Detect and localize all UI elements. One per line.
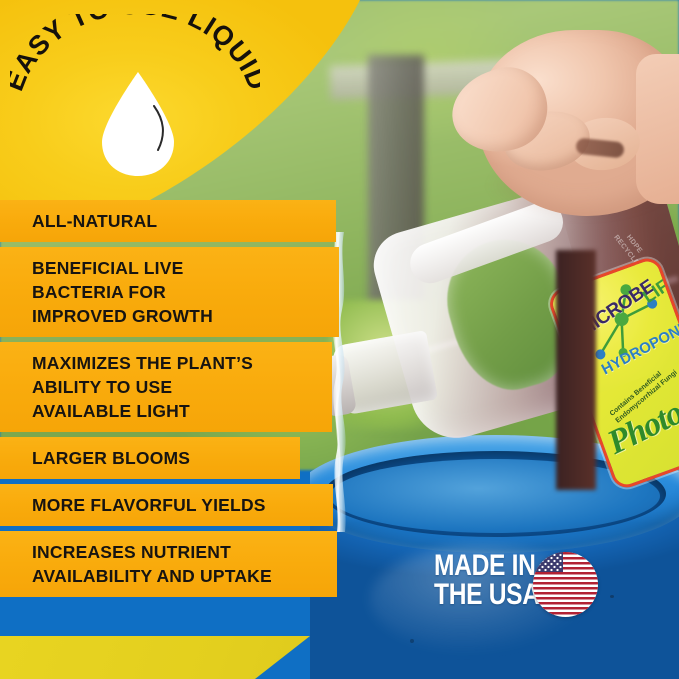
benefit-bar: ALL-NATURAL: [0, 200, 336, 242]
benefit-bar: MAXIMIZES THE PLANT’S ABILITY TO USE AVA…: [0, 342, 332, 432]
bucket-speck: [410, 639, 414, 643]
benefits-list: ALL-NATURAL BENEFICIAL LIVE BACTERIA FOR…: [0, 200, 340, 602]
made-in-usa-text: MADE IN THE USA: [434, 551, 540, 609]
benefit-text: ALL-NATURAL: [32, 209, 326, 233]
benefit-bar: INCREASES NUTRIENT AVAILABILITY AND UPTA…: [0, 531, 337, 597]
benefit-text: INCREASES NUTRIENT AVAILABILITY AND UPTA…: [32, 540, 327, 588]
water-droplet-icon: [96, 68, 180, 180]
hand-gripping-jug-icon: [400, 0, 679, 300]
bucket-speck: [610, 595, 614, 598]
made-in-usa-badge: MADE IN THE USA: [434, 549, 604, 621]
us-flag-circle-icon: [533, 552, 598, 617]
jug-side-shadow: [556, 250, 596, 490]
benefit-bar: BENEFICIAL LIVE BACTERIA FOR IMPROVED GR…: [0, 247, 339, 337]
infographic-canvas: HDPE RECYCLE: [0, 0, 679, 679]
benefit-bar: MORE FLAVORFUL YIELDS: [0, 484, 333, 526]
benefit-bar: LARGER BLOOMS: [0, 437, 300, 479]
benefit-text: MAXIMIZES THE PLANT’S ABILITY TO USE AVA…: [32, 351, 322, 423]
wrist: [636, 54, 679, 204]
benefit-text: BENEFICIAL LIVE BACTERIA FOR IMPROVED GR…: [32, 256, 329, 328]
benefit-text: MORE FLAVORFUL YIELDS: [32, 493, 323, 517]
benefit-text: LARGER BLOOMS: [32, 446, 290, 470]
